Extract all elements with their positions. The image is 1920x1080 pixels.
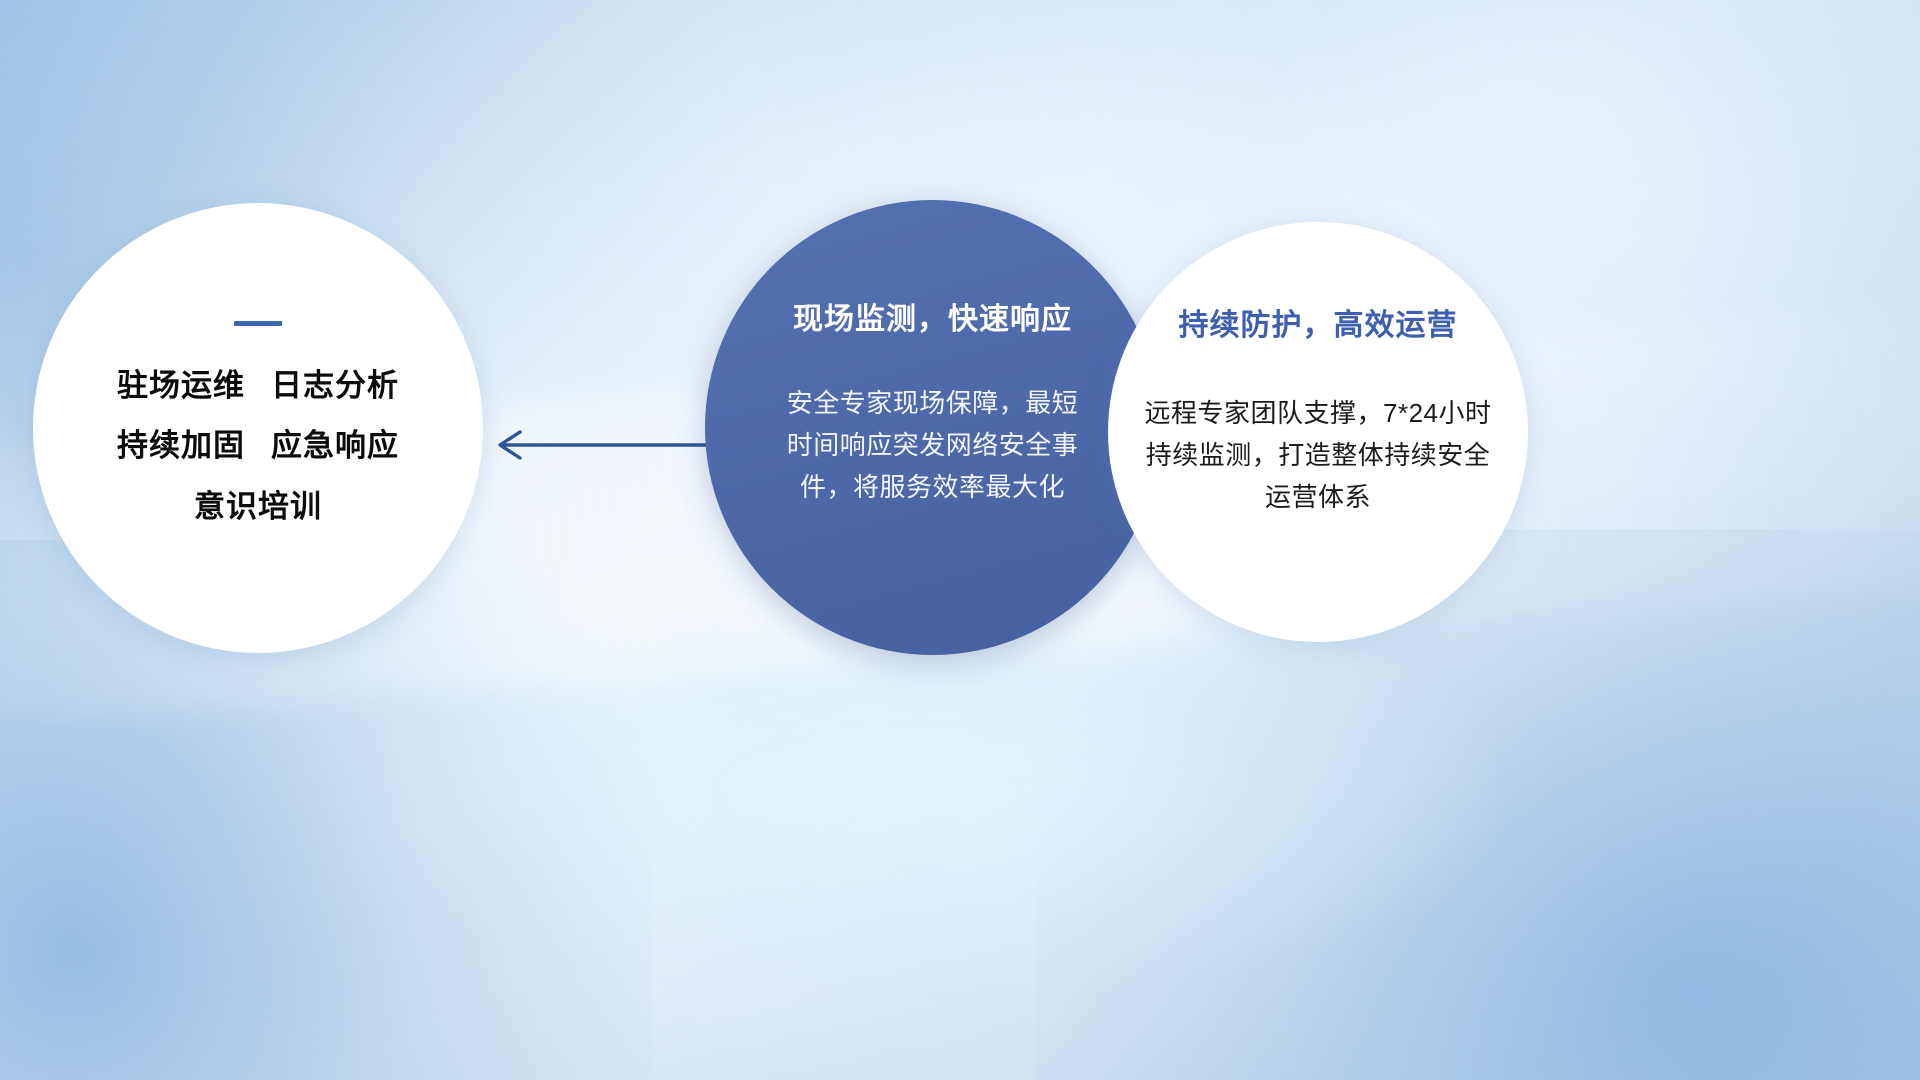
capability-label: 意识培训	[194, 489, 322, 524]
flow-arrow-left-icon	[470, 410, 730, 480]
capability-circle-right[interactable]: 持续防护，高效运营 远程专家团队支撑，7*24小时持续监测，打造整体持续安全运营…	[1108, 222, 1528, 642]
list-item: 持续加固应急响应	[33, 416, 483, 476]
list-item: 意识培训	[33, 477, 483, 537]
right-circle-title: 持续防护，高效运营	[1179, 300, 1458, 344]
capability-list: 驻场运维日志分析 持续加固应急响应 意识培训	[33, 356, 483, 537]
capability-circle-middle[interactable]: 现场监测，快速响应 安全专家现场保障，最短时间响应突发网络安全事件，将服务效率最…	[705, 200, 1160, 655]
list-item: 驻场运维日志分析	[33, 356, 483, 416]
right-circle-body: 远程专家团队支撑，7*24小时持续监测，打造整体持续安全运营体系	[1144, 392, 1492, 518]
middle-circle-title: 现场监测，快速响应	[793, 294, 1072, 338]
divider-dash	[234, 321, 282, 326]
capability-label: 持续加固	[117, 428, 245, 463]
capability-label: 应急响应	[271, 428, 399, 463]
middle-circle-body: 安全专家现场保障，最短时间响应突发网络安全事件，将服务效率最大化	[783, 382, 1083, 508]
slide-canvas: 驻场运维日志分析 持续加固应急响应 意识培训 现场监测，快速响应 安全专家现场保…	[0, 0, 1920, 1080]
capability-label: 驻场运维	[117, 368, 245, 403]
capability-label: 日志分析	[271, 368, 399, 403]
capability-circle-left[interactable]: 驻场运维日志分析 持续加固应急响应 意识培训	[33, 203, 483, 653]
